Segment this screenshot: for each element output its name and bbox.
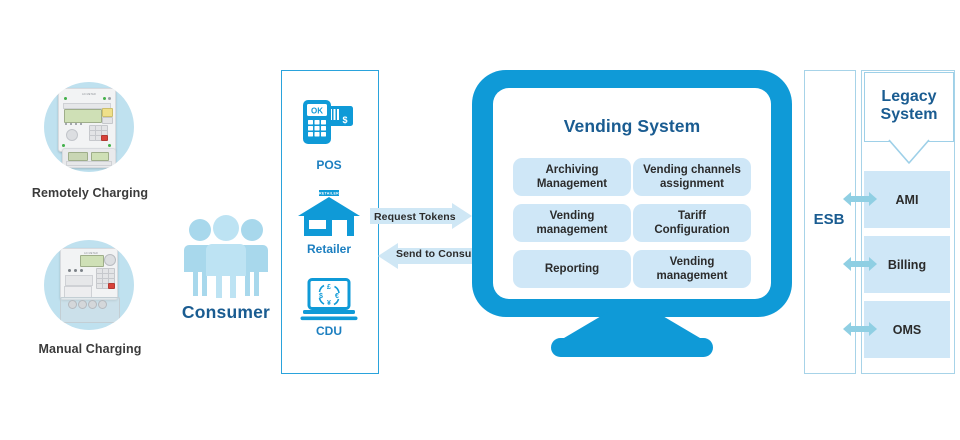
legacy-system-label: LegacySystem <box>865 88 953 124</box>
vending-system-title: Vending System <box>493 116 771 137</box>
svg-text:£: £ <box>327 284 331 291</box>
esb-label: ESB <box>804 211 854 228</box>
consumer-label: Consumer <box>174 302 278 323</box>
tile-vending-management-1[interactable]: Vendingmanagement <box>513 204 631 242</box>
svg-text:€: € <box>335 293 339 300</box>
tile-tariff-configuration[interactable]: TariffConfiguration <box>633 204 751 242</box>
electricity-meter-illustration: AN METER <box>44 240 134 330</box>
remote-meter-label: Remotely Charging <box>0 186 180 200</box>
svg-text:OK: OK <box>311 107 323 116</box>
manual-meter-icon: AN METER <box>44 240 134 330</box>
monitor-stand <box>500 312 764 365</box>
esb-oms-arrow <box>843 322 877 341</box>
svg-text:$: $ <box>342 115 347 125</box>
esb-ami-arrow <box>843 192 877 211</box>
tile-label: Vending channelsassignment <box>643 163 741 191</box>
laptop-currency-icon[interactable]: £ € ¥ $ <box>300 278 358 327</box>
tile-vending-channels-assignment[interactable]: Vending channelsassignment <box>633 158 751 196</box>
tile-label: TariffConfiguration <box>654 209 729 237</box>
system-label: OMS <box>893 323 921 337</box>
tile-label: Vendingmanagement <box>657 255 728 283</box>
tile-reporting[interactable]: Reporting <box>513 250 631 288</box>
svg-text:RETAILER: RETAILER <box>319 192 339 196</box>
legacy-system-callout: LegacySystem <box>864 72 954 142</box>
manual-meter-label: Manual Charging <box>0 342 180 356</box>
architecture-diagram: AN METER <box>0 0 960 440</box>
electricity-meter-illustration: AN METER <box>44 82 134 172</box>
retailer-shop-icon[interactable]: RETAILER <box>296 190 362 243</box>
tile-label: Reporting <box>545 262 599 276</box>
svg-text:¥: ¥ <box>327 300 331 307</box>
tile-label: Vendingmanagement <box>537 209 608 237</box>
tile-label: ArchivingManagement <box>537 163 607 191</box>
people-group-icon <box>178 214 274 303</box>
pos-label: POS <box>269 158 389 172</box>
pos-terminal-icon[interactable]: $ OK <box>301 98 357 151</box>
system-label: Billing <box>888 258 926 272</box>
callout-pointer <box>888 139 930 170</box>
retailer-label: Retailer <box>269 242 389 256</box>
request-tokens-label: Request Tokens <box>374 211 456 223</box>
esb-billing-arrow <box>843 257 877 276</box>
tile-archiving-management[interactable]: ArchivingManagement <box>513 158 631 196</box>
system-label: AMI <box>896 193 919 207</box>
tile-vending-management-2[interactable]: Vendingmanagement <box>633 250 751 288</box>
cdu-label: CDU <box>269 324 389 338</box>
remote-meter-icon: AN METER <box>44 82 134 172</box>
